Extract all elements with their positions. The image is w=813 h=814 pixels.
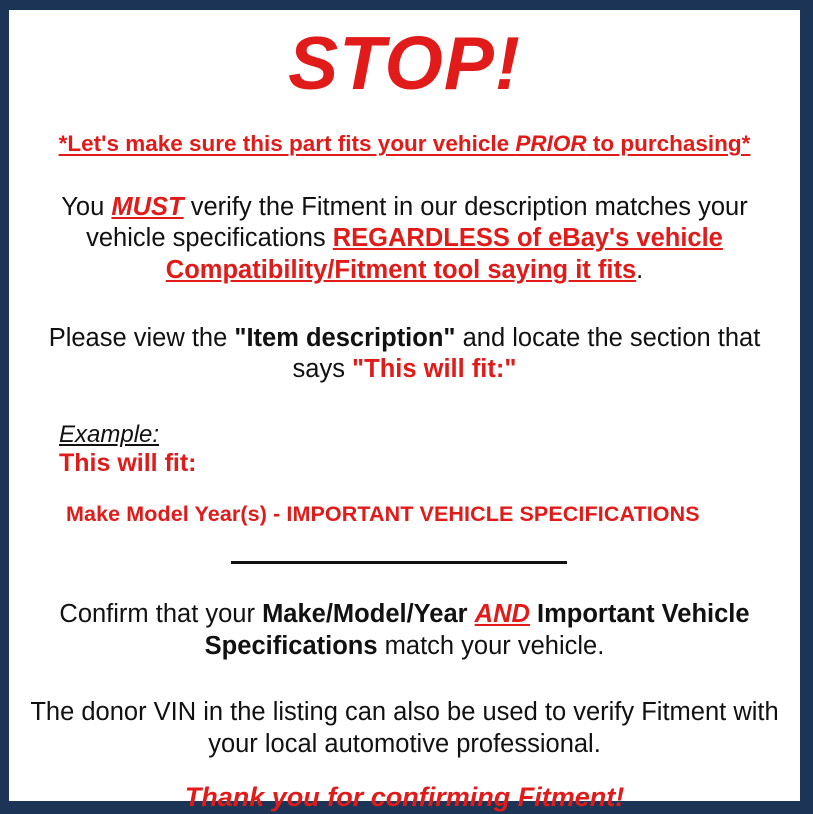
example-label-row: Example: xyxy=(59,422,788,447)
tagline-before: *Let's make sure this part fits your veh… xyxy=(59,131,516,156)
example-block: Example: This will fit: Make Model Year(… xyxy=(21,386,788,527)
divider-wrap xyxy=(21,527,788,572)
must-part1: You xyxy=(61,193,111,221)
must-part3: . xyxy=(636,256,643,284)
horizontal-divider xyxy=(231,561,567,564)
example-label: Example: xyxy=(59,422,159,447)
example-fit-heading: This will fit: xyxy=(59,447,788,478)
desc-part1: Please view the xyxy=(49,324,235,352)
must-emphasis: MUST xyxy=(111,193,183,221)
closing-thanks: Thank you for confirming Fitment! xyxy=(21,761,788,813)
confirm-part4: match your vehicle. xyxy=(378,632,605,660)
item-description-emphasis: "Item description" xyxy=(234,324,455,352)
and-emphasis: AND xyxy=(475,600,530,628)
fitment-notice-panel: STOP! *Let's make sure this part fits yo… xyxy=(0,0,813,814)
stop-title: STOP! xyxy=(21,10,788,101)
tagline-prior-emphasis: PRIOR xyxy=(515,131,586,156)
confirm-part3 xyxy=(530,600,537,628)
this-will-fit-emphasis: "This will fit:" xyxy=(352,355,516,383)
make-model-year-emphasis: Make/Model/Year xyxy=(262,600,468,628)
example-spec-line: Make Model Year(s) - IMPORTANT VEHICLE S… xyxy=(59,477,788,527)
tagline-after: to purchasing* xyxy=(587,131,751,156)
paragraph-confirm: Confirm that your Make/Model/Year AND Im… xyxy=(21,572,788,662)
paragraph-description: Please view the "Item description" and l… xyxy=(21,287,788,386)
tagline: *Let's make sure this part fits your veh… xyxy=(21,101,788,157)
notice-content: STOP! *Let's make sure this part fits yo… xyxy=(9,10,800,801)
paragraph-vin: The donor VIN in the listing can also be… xyxy=(21,662,788,760)
confirm-part1: Confirm that your xyxy=(59,600,262,628)
paragraph-must: You MUST verify the Fitment in our descr… xyxy=(21,157,788,287)
confirm-part2 xyxy=(468,600,475,628)
